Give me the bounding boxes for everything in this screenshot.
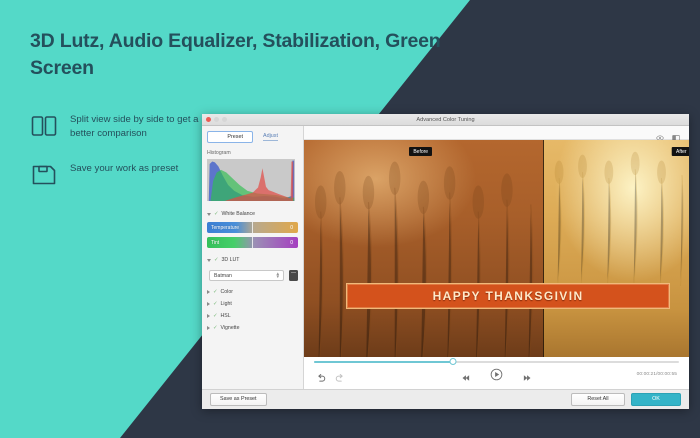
video-before-pane bbox=[304, 140, 543, 357]
feature-item-label: Split view side by side to get a better … bbox=[70, 112, 205, 141]
play-icon[interactable] bbox=[490, 368, 503, 381]
tab-bar: Preset Adjust bbox=[207, 131, 298, 143]
section-label: Color bbox=[221, 289, 233, 295]
overlay-text: HAPPY THANKSGIVIN bbox=[433, 289, 584, 303]
badge-before: Before bbox=[409, 147, 432, 156]
video-after-pane bbox=[543, 140, 689, 357]
lut-preset-value: Batman bbox=[214, 273, 232, 279]
slider-label: Tint bbox=[207, 240, 290, 246]
section-header-vignette[interactable]: ✓ Vignette bbox=[207, 322, 298, 334]
trash-icon[interactable] bbox=[289, 270, 298, 281]
section-label: Light bbox=[221, 301, 232, 307]
feature-list: Split view side by side to get a better … bbox=[30, 112, 205, 209]
sidebar-spacer bbox=[207, 334, 298, 389]
chevron-down-icon bbox=[207, 259, 211, 262]
split-compare-icon[interactable] bbox=[672, 129, 680, 137]
window-footer: Save as Preset Reset All OK bbox=[202, 389, 689, 409]
check-icon: ✓ bbox=[213, 301, 218, 307]
app-window: Advanced Color Tuning Preset Adjust Hist… bbox=[202, 114, 689, 409]
slider-value: 0 bbox=[290, 240, 298, 246]
histogram-label: Histogram bbox=[207, 150, 298, 156]
slider-tint[interactable]: Tint 0 bbox=[207, 237, 298, 248]
check-icon: ✓ bbox=[214, 257, 219, 263]
timecode-display: 00:00:21/00:00:55 bbox=[637, 372, 677, 377]
tab-adjust[interactable]: Adjust bbox=[263, 133, 278, 141]
window-body: Preset Adjust Histogram ✓ White Balance … bbox=[202, 126, 689, 389]
eye-icon[interactable] bbox=[656, 129, 664, 137]
section-label: 3D LUT bbox=[222, 257, 240, 263]
save-as-preset-button[interactable]: Save as Preset bbox=[210, 393, 267, 406]
histogram-chart bbox=[207, 159, 295, 201]
slider-temperature[interactable]: Temperature 0 bbox=[207, 222, 298, 233]
section-label: White Balance bbox=[222, 211, 255, 217]
check-icon: ✓ bbox=[213, 289, 218, 295]
section-header-light[interactable]: ✓ Light bbox=[207, 298, 298, 310]
check-icon: ✓ bbox=[214, 211, 219, 217]
chevron-right-icon bbox=[207, 302, 210, 306]
skip-forward-icon[interactable] bbox=[522, 370, 532, 380]
check-icon: ✓ bbox=[213, 313, 218, 319]
section-header-color[interactable]: ✓ Color bbox=[207, 286, 298, 298]
video-preview-stage[interactable]: Before After HAPPY THANKSGIVIN bbox=[304, 140, 689, 357]
floppy-disk-icon bbox=[30, 161, 58, 189]
ok-button[interactable]: OK bbox=[631, 393, 681, 406]
slider-label: Temperature bbox=[207, 225, 290, 231]
lut-preset-select[interactable]: Batman ▲▼ bbox=[209, 270, 284, 281]
feature-item-split-view: Split view side by side to get a better … bbox=[30, 112, 205, 141]
stepper-icon: ▲▼ bbox=[275, 273, 280, 278]
check-icon: ✓ bbox=[213, 325, 218, 331]
chevron-right-icon bbox=[207, 326, 210, 330]
chevron-down-icon bbox=[207, 213, 211, 216]
window-title: Advanced Color Tuning bbox=[202, 117, 689, 123]
slider-handle[interactable] bbox=[252, 237, 254, 248]
scrubber-handle[interactable] bbox=[449, 358, 456, 365]
badge-after: After bbox=[672, 147, 689, 156]
section-header-3d-lut[interactable]: ✓ 3D LUT bbox=[207, 254, 298, 266]
sidebar-panel: Preset Adjust Histogram ✓ White Balance … bbox=[202, 126, 304, 389]
preview-area: Before After HAPPY THANKSGIVIN bbox=[304, 126, 689, 389]
section-label: HSL bbox=[221, 313, 231, 319]
wheat-texture bbox=[304, 140, 543, 357]
preview-toolbar bbox=[304, 126, 689, 140]
feature-item-save-preset: Save your work as preset bbox=[30, 161, 205, 189]
section-header-hsl[interactable]: ✓ HSL bbox=[207, 310, 298, 322]
section-header-white-balance[interactable]: ✓ White Balance bbox=[207, 208, 298, 220]
text-overlay-banner[interactable]: HAPPY THANKSGIVIN bbox=[346, 283, 669, 309]
lut-preset-row: Batman ▲▼ bbox=[209, 270, 298, 281]
chevron-right-icon bbox=[207, 290, 210, 294]
slider-handle[interactable] bbox=[252, 222, 254, 233]
wheat-texture bbox=[543, 140, 689, 286]
chevron-right-icon bbox=[207, 314, 210, 318]
scrubber-progress bbox=[314, 361, 453, 363]
split-divider-handle[interactable] bbox=[543, 140, 544, 357]
section-label: Vignette bbox=[221, 325, 240, 331]
tab-preset[interactable]: Preset bbox=[207, 131, 253, 143]
transport-bar: 00:00:21/00:00:55 bbox=[304, 357, 689, 389]
window-titlebar: Advanced Color Tuning bbox=[202, 114, 689, 126]
skip-back-icon[interactable] bbox=[461, 370, 471, 380]
playback-scrubber[interactable] bbox=[314, 361, 679, 363]
split-view-icon bbox=[30, 112, 58, 140]
promo-headline: 3D Lutz, Audio Equalizer, Stabilization,… bbox=[30, 28, 460, 82]
slider-value: 0 bbox=[290, 225, 298, 231]
playback-controls bbox=[304, 368, 689, 381]
reset-all-button[interactable]: Reset All bbox=[571, 393, 625, 406]
feature-item-label: Save your work as preset bbox=[70, 161, 178, 176]
